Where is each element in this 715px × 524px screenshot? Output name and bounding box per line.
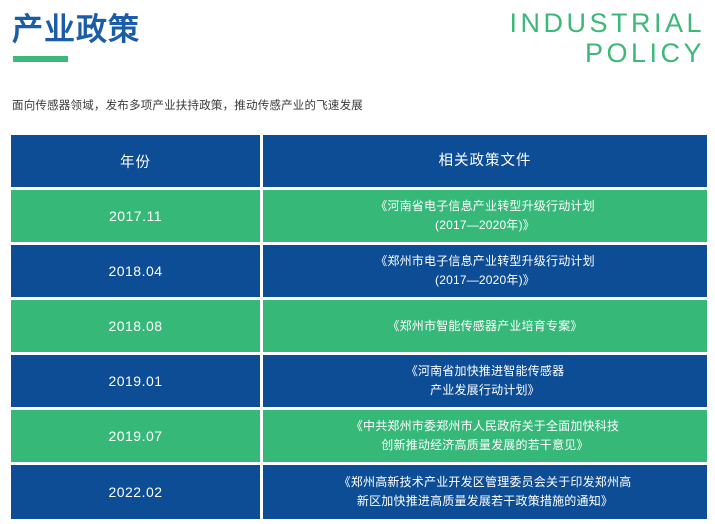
document-line-2: 产业发展行动计划》 [406,381,565,400]
table-row[interactable]: 2018.08 《郑州市智能传感器产业培育专案》 [11,300,707,352]
document-line-2: (2017—2020年)》 [375,271,595,290]
cell-document: 《河南省加快推进智能传感器 产业发展行动计划》 [263,355,707,407]
table-row[interactable]: 2017.11 《河南省电子信息产业转型升级行动计划 (2017—2020年)》 [11,190,707,242]
table-row[interactable]: 2019.07 《中共郑州市委郑州市人民政府关于全面加快科技 创新推动经济高质量… [11,410,707,462]
cell-year: 2018.08 [11,300,260,352]
table-row[interactable]: 2022.02 《郑州高新技术产业开发区管理委员会关于印发郑州高 新区加快推进高… [11,465,707,519]
document-line-1: 《河南省加快推进智能传感器 [406,362,565,381]
document-line-1: 《中共郑州市委郑州市人民政府关于全面加快科技 [351,417,619,436]
page-title-english: INDUSTRIAL POLICY [509,8,705,68]
document-line-1: 《河南省电子信息产业转型升级行动计划 [375,197,595,216]
cell-year: 2022.02 [11,465,260,519]
cell-document: 《中共郑州市委郑州市人民政府关于全面加快科技 创新推动经济高质量发展的若干意见》 [263,410,707,462]
title-accent-rule [13,56,68,62]
title-english-line1: INDUSTRIAL [509,8,705,38]
table-header-row: 年份 相关政策文件 [11,135,707,187]
cell-year: 2019.07 [11,410,260,462]
cell-year: 2018.04 [11,245,260,297]
table-row[interactable]: 2019.01 《河南省加快推进智能传感器 产业发展行动计划》 [11,355,707,407]
cell-year: 2017.11 [11,190,260,242]
table-row[interactable]: 2018.04 《郑州市电子信息产业转型升级行动计划 (2017—2020年)》 [11,245,707,297]
document-line-1: 《郑州高新技术产业开发区管理委员会关于印发郑州高 [339,473,632,492]
document-line-2: 新区加快推进高质量发展若干政策措施的通知》 [339,492,632,511]
page-title: 产业政策 [12,10,140,50]
cell-document: 《郑州高新技术产业开发区管理委员会关于印发郑州高 新区加快推进高质量发展若干政策… [263,465,707,519]
page-header: 产业政策 INDUSTRIAL POLICY 面向传感器领域，发布多项产业扶持政… [0,0,715,130]
cell-document: 《郑州市电子信息产业转型升级行动计划 (2017—2020年)》 [263,245,707,297]
cell-year: 2019.01 [11,355,260,407]
policy-table: 年份 相关政策文件 2017.11 《河南省电子信息产业转型升级行动计划 (20… [11,135,707,522]
title-english-line2: POLICY [509,38,705,68]
cell-document: 《郑州市智能传感器产业培育专案》 [263,300,707,352]
document-line-2: (2017—2020年)》 [375,216,595,235]
cell-document: 《河南省电子信息产业转型升级行动计划 (2017—2020年)》 [263,190,707,242]
page-subtitle: 面向传感器领域，发布多项产业扶持政策，推动传感产业的飞速发展 [12,97,363,113]
column-header-document: 相关政策文件 [263,135,707,187]
column-header-year: 年份 [11,135,260,187]
document-line-1: 《郑州市智能传感器产业培育专案》 [387,317,582,336]
document-line-2: 创新推动经济高质量发展的若干意见》 [351,436,619,455]
document-line-1: 《郑州市电子信息产业转型升级行动计划 [375,252,595,271]
